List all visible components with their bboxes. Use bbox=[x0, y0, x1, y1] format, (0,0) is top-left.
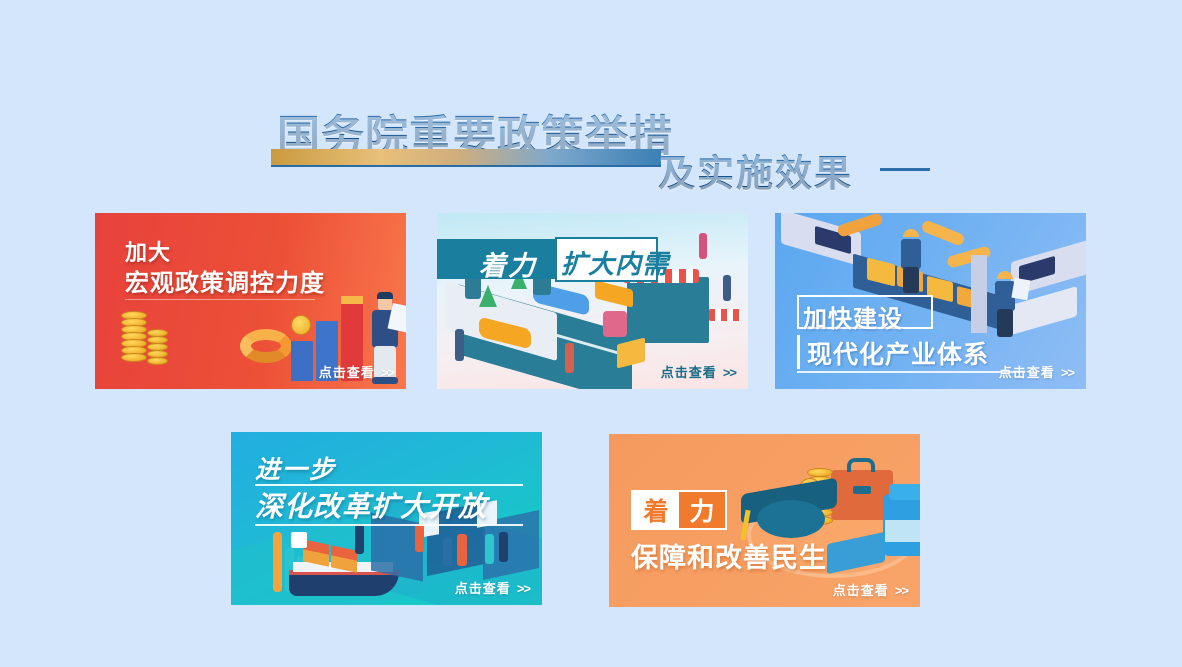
visitor-1 bbox=[355, 524, 364, 554]
card2-cta[interactable]: 点击查看>> bbox=[661, 362, 736, 381]
card-build-modern-industrial-system[interactable]: 加快建设 现代化产业体系 点击查看>> bbox=[775, 213, 1086, 389]
bar-chart-bar-low bbox=[291, 341, 313, 381]
card5-title-line-2: 保障和改善民生 bbox=[631, 536, 827, 575]
briefcase-handle-icon bbox=[847, 458, 875, 472]
card-expand-macro-policy[interactable]: 加大 宏观政策调控力度 点击查看>> bbox=[95, 213, 406, 389]
worker-1-helmet bbox=[903, 229, 919, 237]
chart-bar-orange bbox=[273, 532, 282, 592]
worker-2-legs bbox=[997, 309, 1013, 337]
card2-title-main: 扩大内需 bbox=[561, 244, 669, 281]
visitor-5 bbox=[485, 534, 494, 564]
card3-title-line-2: 现代化产业体系 bbox=[807, 335, 989, 371]
card-expand-domestic-demand[interactable]: 着力 扩大内需 点击查看>> bbox=[437, 213, 748, 389]
visitor-4 bbox=[457, 534, 467, 566]
card-improve-peoples-livelihood[interactable]: 着 力 保障和改善民生 点击查看>> bbox=[609, 434, 920, 607]
card4-cta[interactable]: 点击查看>> bbox=[455, 578, 530, 597]
card1-cta-arrows-icon: >> bbox=[381, 365, 394, 380]
person-hair bbox=[377, 292, 393, 299]
card3-cta-arrows-icon: >> bbox=[1061, 365, 1074, 380]
visitor-2 bbox=[415, 524, 424, 552]
card1-title-line-2: 宏观政策调控力度 bbox=[125, 263, 325, 298]
card5-cta-arrows-icon: >> bbox=[895, 583, 908, 598]
card4-title-line-1: 进一步 bbox=[255, 450, 336, 486]
card5-cta[interactable]: 点击查看>> bbox=[833, 580, 908, 599]
card4-title-divider-2 bbox=[255, 524, 523, 526]
page-root: 国务院重要政策举措 及实施效果 加大 bbox=[0, 0, 1182, 667]
card-deepen-reform-open-up[interactable]: 进一步 深化改革扩大开放 点击查看>> bbox=[231, 432, 542, 605]
card5-cta-label: 点击查看 bbox=[833, 583, 889, 598]
page-title-line-2: 及实施效果 bbox=[658, 143, 853, 197]
card4-title-line-2: 深化改革扩大开放 bbox=[255, 485, 487, 525]
shop-building-illustration bbox=[627, 277, 709, 343]
pedestrian-5 bbox=[723, 275, 731, 301]
worker-1-body bbox=[901, 239, 921, 269]
card5-title-prefix-a: 着 bbox=[633, 492, 679, 528]
market-stall-illustration bbox=[709, 309, 741, 321]
pedestrian-1 bbox=[455, 329, 464, 361]
medicine-bottle-label bbox=[885, 520, 920, 542]
gold-coin-illustration bbox=[291, 315, 311, 335]
title-gradient-rule bbox=[271, 149, 661, 166]
pedestrian-3 bbox=[579, 345, 588, 375]
title-dash-decoration bbox=[880, 168, 930, 171]
title-rule-underline bbox=[271, 165, 661, 167]
medicine-bottle-cap bbox=[889, 484, 920, 500]
card3-title-vertical-bar bbox=[797, 335, 800, 369]
card2-cta-arrows-icon: >> bbox=[723, 365, 736, 380]
page-header: 国务院重要政策举措 及实施效果 bbox=[0, 46, 1182, 156]
card1-title-underline bbox=[125, 299, 315, 300]
pillar-illustration bbox=[971, 255, 987, 333]
luggage-illustration bbox=[603, 311, 627, 337]
visitor-3 bbox=[443, 538, 452, 566]
ship-bridge-illustration bbox=[291, 532, 307, 548]
graduation-cap-crown bbox=[757, 500, 825, 538]
card5-title-prefix-box: 着 力 bbox=[631, 490, 727, 530]
card3-cta[interactable]: 点击查看>> bbox=[999, 362, 1074, 381]
card4-cta-label: 点击查看 bbox=[455, 581, 511, 596]
bar-chart-bar-high-cap bbox=[341, 296, 363, 304]
card1-cta[interactable]: 点击查看>> bbox=[319, 362, 394, 381]
briefcase-clasp bbox=[853, 486, 871, 494]
card3-cta-label: 点击查看 bbox=[999, 365, 1055, 380]
pedestrian-4 bbox=[699, 233, 707, 259]
card4-cta-arrows-icon: >> bbox=[517, 581, 530, 596]
card5-title-prefix-b: 力 bbox=[679, 492, 725, 528]
card2-title-prefix: 着力 bbox=[479, 244, 537, 283]
card1-cta-label: 点击查看 bbox=[319, 365, 375, 380]
worker-2-clipboard bbox=[1011, 278, 1030, 300]
worker-1-legs bbox=[903, 267, 919, 293]
donut-ring-illustration bbox=[240, 329, 292, 363]
robot-arm-center-a bbox=[920, 219, 965, 247]
visitor-6 bbox=[499, 532, 508, 562]
card3-title-line-1: 加快建设 bbox=[803, 299, 903, 334]
pedestrian-2 bbox=[565, 343, 574, 373]
card3-title-underline bbox=[797, 371, 1025, 373]
ship-hull-illustration bbox=[289, 572, 399, 596]
card2-cta-label: 点击查看 bbox=[661, 365, 717, 380]
tree-illustration-1 bbox=[479, 285, 497, 307]
